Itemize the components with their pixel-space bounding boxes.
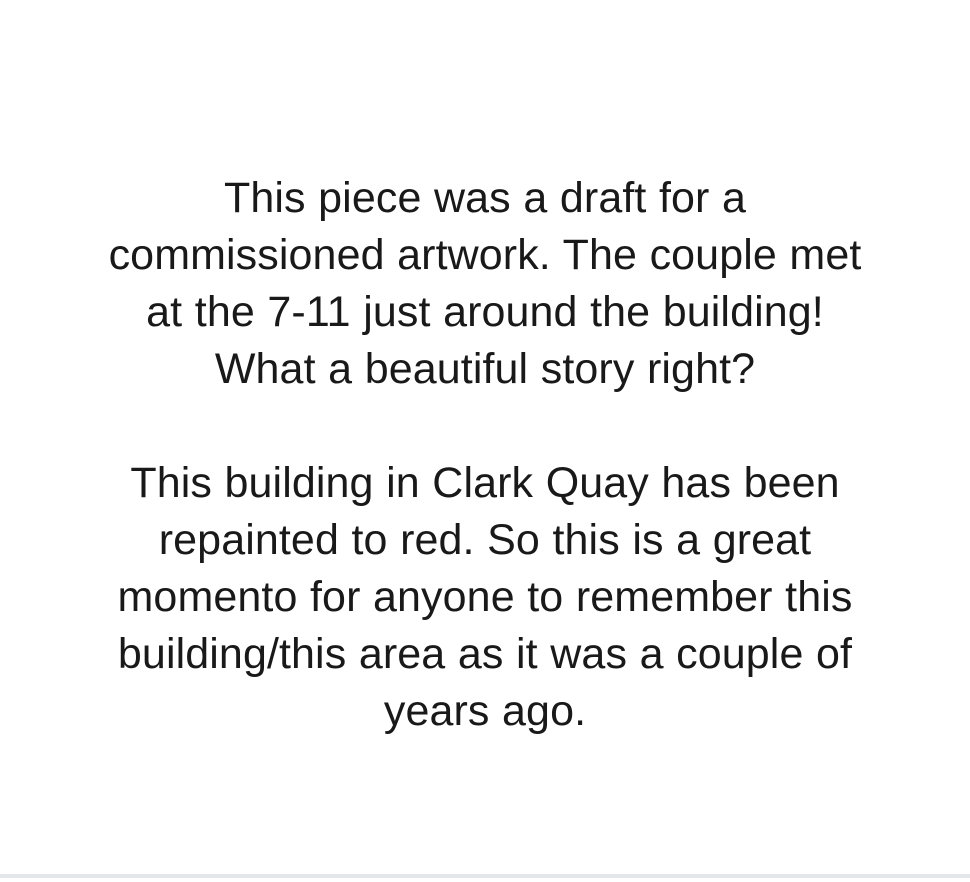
caption-text-block: This piece was a draft for a commissione… xyxy=(95,170,875,740)
bottom-divider xyxy=(0,874,970,878)
caption-paragraph-1: This piece was a draft for a commissione… xyxy=(95,170,875,398)
caption-screen: This piece was a draft for a commissione… xyxy=(0,0,970,882)
caption-paragraph-2: This building in Clark Quay has been rep… xyxy=(95,455,875,740)
paragraph-spacer xyxy=(95,398,875,455)
